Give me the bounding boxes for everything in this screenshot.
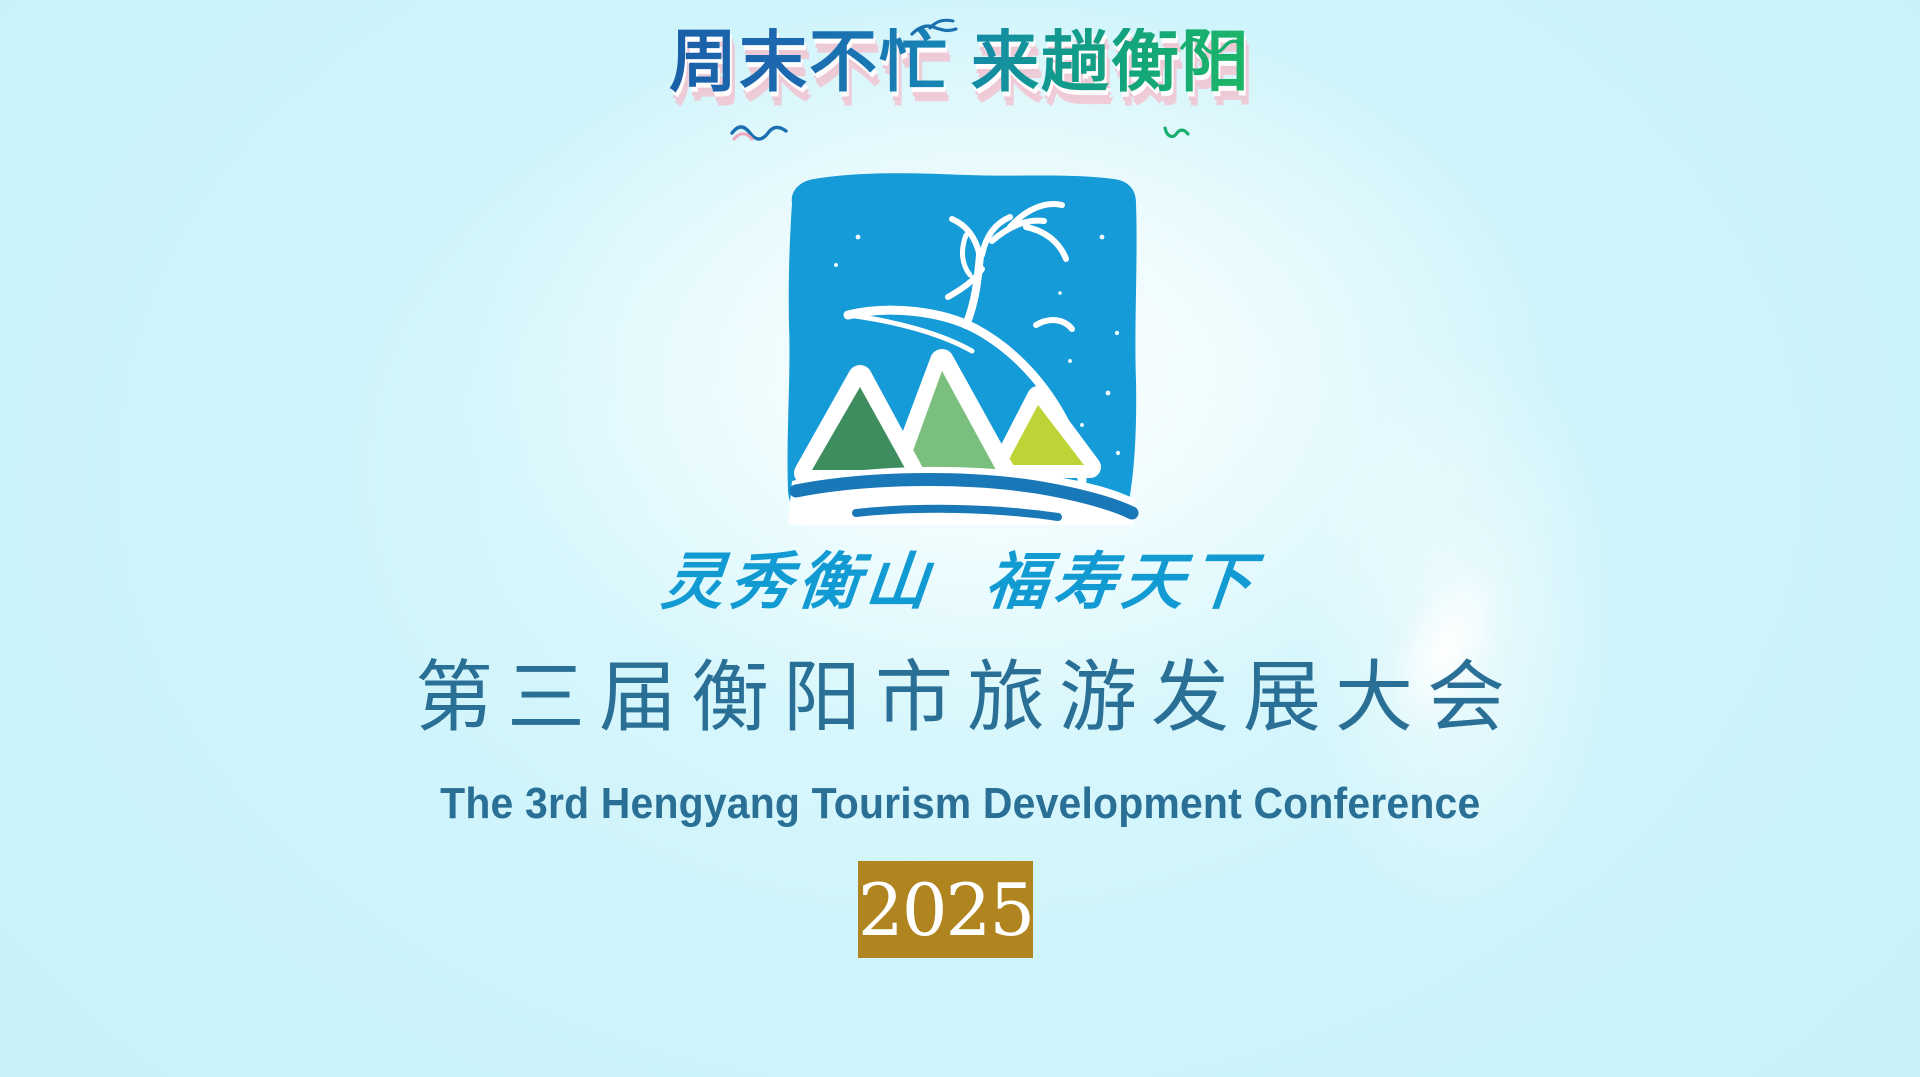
year-badge: 2025 (858, 861, 1033, 958)
calligraphy-container: 灵秀衡山福寿天下 (0, 552, 1920, 614)
calligraphy-text: 灵秀衡山福寿天下 (659, 552, 1262, 614)
light-glow-streak (1324, 501, 1567, 800)
year-badge-label: 2025 (858, 874, 1033, 946)
page-subtitle: The 3rd Hengyang Tourism Development Con… (440, 782, 1480, 826)
page-title: 第三届衡阳市旅游发展大会 (401, 658, 1519, 736)
wave-squiggle-icon-right (1162, 122, 1192, 142)
poster-canvas: 周末不忙来趟衡阳 (0, 0, 1920, 1077)
slogan-part-1: 周末不忙 (669, 24, 949, 100)
seagull-icon (910, 18, 958, 42)
slogan-text: 周末不忙来趟衡阳 (669, 28, 1251, 96)
calligraphy-part-1: 灵秀衡山 (658, 549, 937, 617)
wave-squiggle-icon-top-right (1180, 34, 1244, 56)
wave-squiggle-icon-left (730, 122, 794, 142)
slogan-container: 周末不忙来趟衡阳 (0, 28, 1920, 96)
calligraphy-part-2: 福寿天下 (982, 549, 1261, 617)
subtitle-container: The 3rd Hengyang Tourism Development Con… (0, 782, 1920, 826)
main-title-container: 第三届衡阳市旅游发展大会 (0, 658, 1920, 736)
hengyang-tourism-logo (770, 165, 1150, 525)
